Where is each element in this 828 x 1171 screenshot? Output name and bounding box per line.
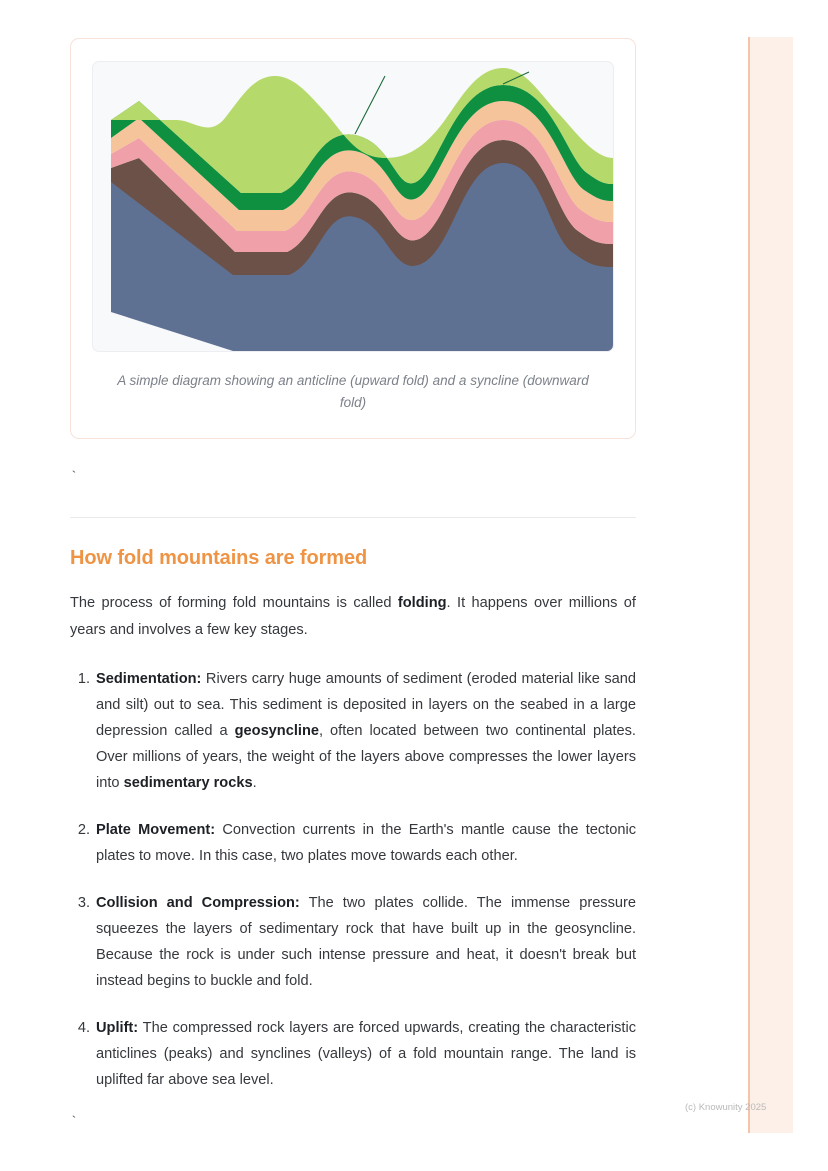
stage-text: Sedimentation: Rivers carry huge amounts… xyxy=(96,671,636,791)
plain-text: The process of forming fold mountains is… xyxy=(70,595,398,611)
plain-text: . xyxy=(253,775,257,791)
section-divider xyxy=(70,517,636,518)
stage-list-item: Plate Movement: Convection currents in t… xyxy=(96,817,636,869)
stage-text: Plate Movement: Convection currents in t… xyxy=(96,822,636,864)
intro-paragraph: The process of forming fold mountains is… xyxy=(70,590,636,644)
fold-axis-line-left xyxy=(355,76,385,134)
emphasis-text: Uplift: xyxy=(96,1020,138,1036)
emphasis-text: folding xyxy=(398,595,447,611)
stray-backtick-top: ` xyxy=(70,470,636,483)
emphasis-text: Sedimentation: xyxy=(96,671,201,687)
diagram-frame xyxy=(92,61,614,352)
stray-backtick-bottom: ` xyxy=(70,1115,636,1128)
section-heading: How fold mountains are formed xyxy=(70,547,636,570)
emphasis-text: geosyncline xyxy=(235,723,319,739)
emphasis-text: sedimentary rocks xyxy=(124,775,253,791)
stages-list: Sedimentation: Rivers carry huge amounts… xyxy=(70,666,636,1093)
stage-list-item: Collision and Compression: The two plate… xyxy=(96,890,636,994)
stage-text: Uplift: The compressed rock layers are f… xyxy=(96,1020,636,1088)
stage-list-item: Sedimentation: Rivers carry huge amounts… xyxy=(96,666,636,796)
emphasis-text: Plate Movement: xyxy=(96,822,215,838)
footer-credit: (c) Knowunity 2025 xyxy=(685,1102,766,1113)
right-side-panel xyxy=(748,37,793,1133)
stage-text: Collision and Compression: The two plate… xyxy=(96,895,636,989)
emphasis-text: Collision and Compression: xyxy=(96,895,300,911)
figure-caption: A simple diagram showing an anticline (u… xyxy=(108,370,598,414)
figure-card: A simple diagram showing an anticline (u… xyxy=(70,38,636,439)
stage-list-item: Uplift: The compressed rock layers are f… xyxy=(96,1015,636,1093)
document-content: A simple diagram showing an anticline (u… xyxy=(70,0,636,1128)
plain-text: The compressed rock layers are forced up… xyxy=(96,1020,636,1088)
fold-mountain-cross-section-diagram xyxy=(93,62,613,351)
